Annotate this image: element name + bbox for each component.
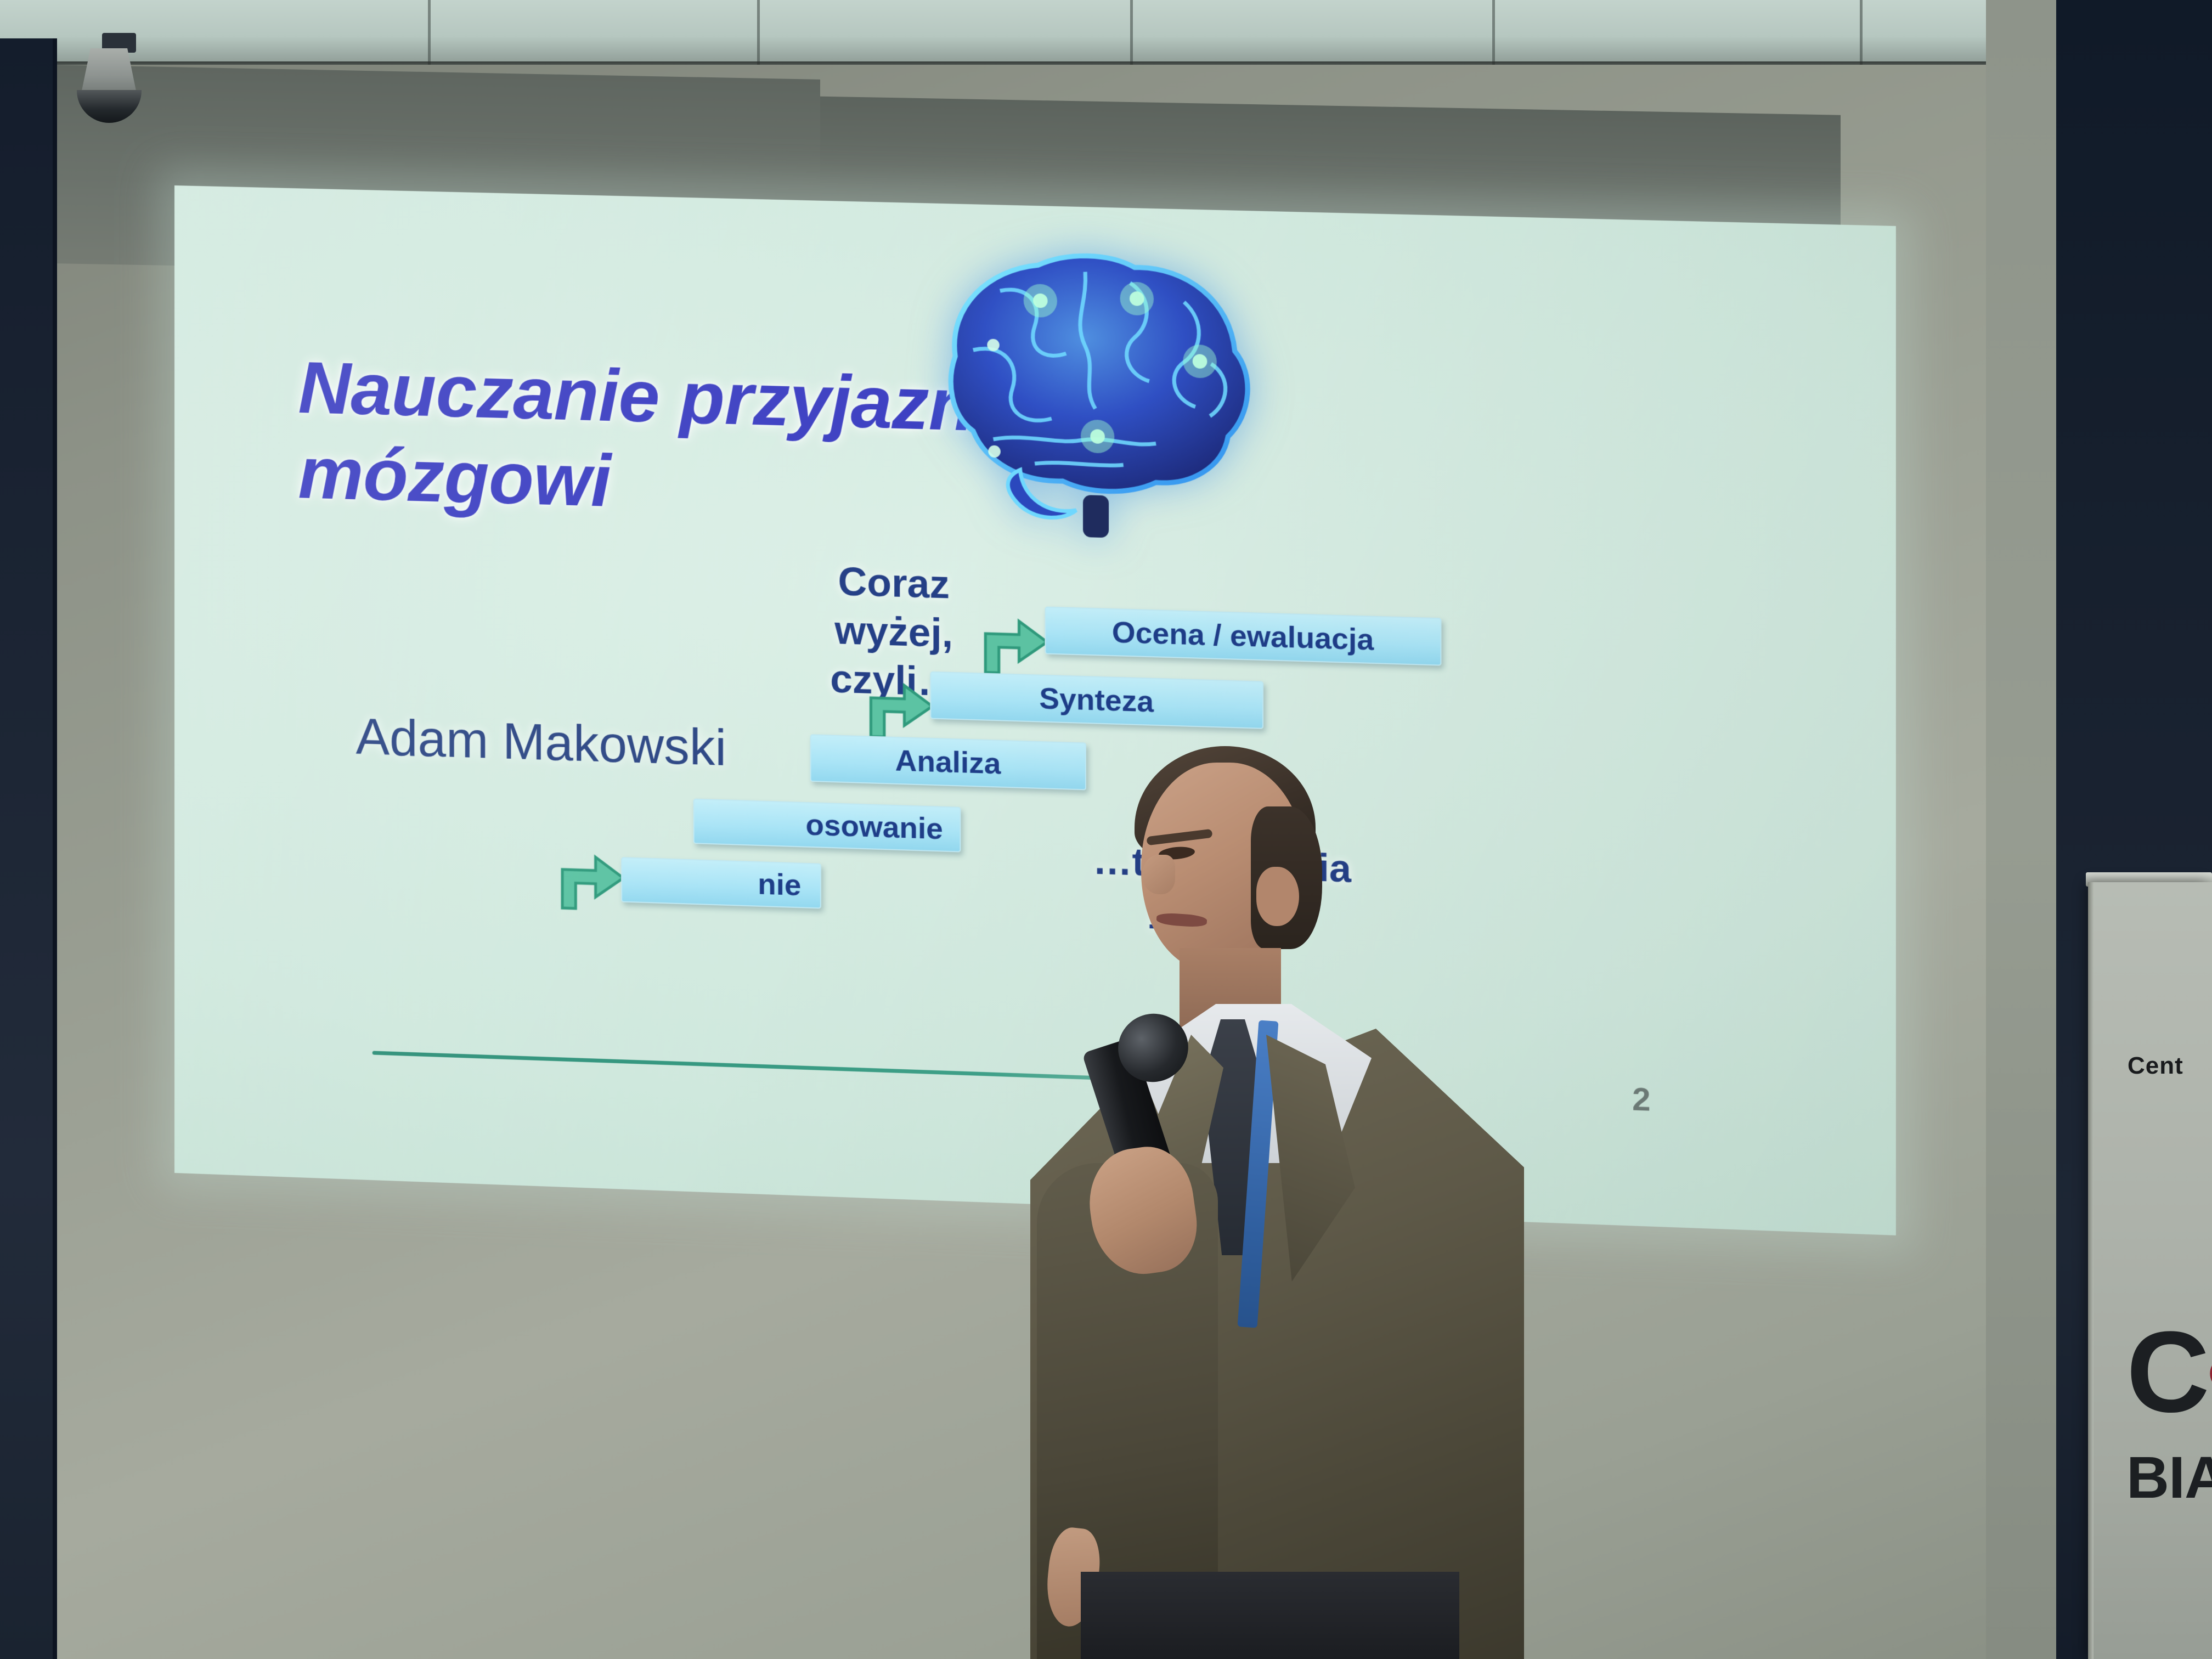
presenter	[998, 730, 1547, 1659]
taxonomy-step-2: nie	[621, 857, 821, 909]
navy-panel-edge-left	[53, 38, 57, 1659]
taxonomy-step-5: Synteza	[930, 672, 1263, 729]
wall-panel-right	[1986, 0, 2063, 1659]
presenter-trousers	[1081, 1572, 1459, 1659]
presenter-nose	[1142, 855, 1175, 894]
banner-logo-dot: •	[2207, 1307, 2212, 1436]
rollup-banner	[2091, 882, 2212, 1659]
banner-logo-letter: C	[2126, 1307, 2207, 1436]
banner-subtitle: BIA	[2126, 1443, 2212, 1511]
taxonomy-step-6: Ocena / ewaluacja	[1045, 606, 1441, 665]
ceiling	[0, 0, 2212, 66]
taxonomy-step-3: osowanie	[693, 799, 961, 853]
slide-number: 2	[1632, 1081, 1650, 1119]
cctv-dome-camera-icon	[65, 33, 153, 115]
banner-logo: C•	[2126, 1325, 2212, 1419]
brain-illustration-icon	[888, 216, 1281, 543]
presenter-ear	[1256, 867, 1299, 926]
arrow-up-right-icon-5	[863, 679, 935, 742]
banner-left-edge	[2088, 882, 2093, 1659]
presentation-room-photo: Nauczanie przyjazne mózgowi Adam Makowsk…	[0, 0, 2212, 1659]
navy-wall-panel-left	[0, 38, 55, 1659]
arrow-up-right-icon-6	[978, 614, 1051, 678]
banner-heading: Cent	[2128, 1052, 2183, 1080]
wall-soffit	[52, 65, 820, 189]
arrow-up-right-icon-2	[555, 850, 627, 913]
